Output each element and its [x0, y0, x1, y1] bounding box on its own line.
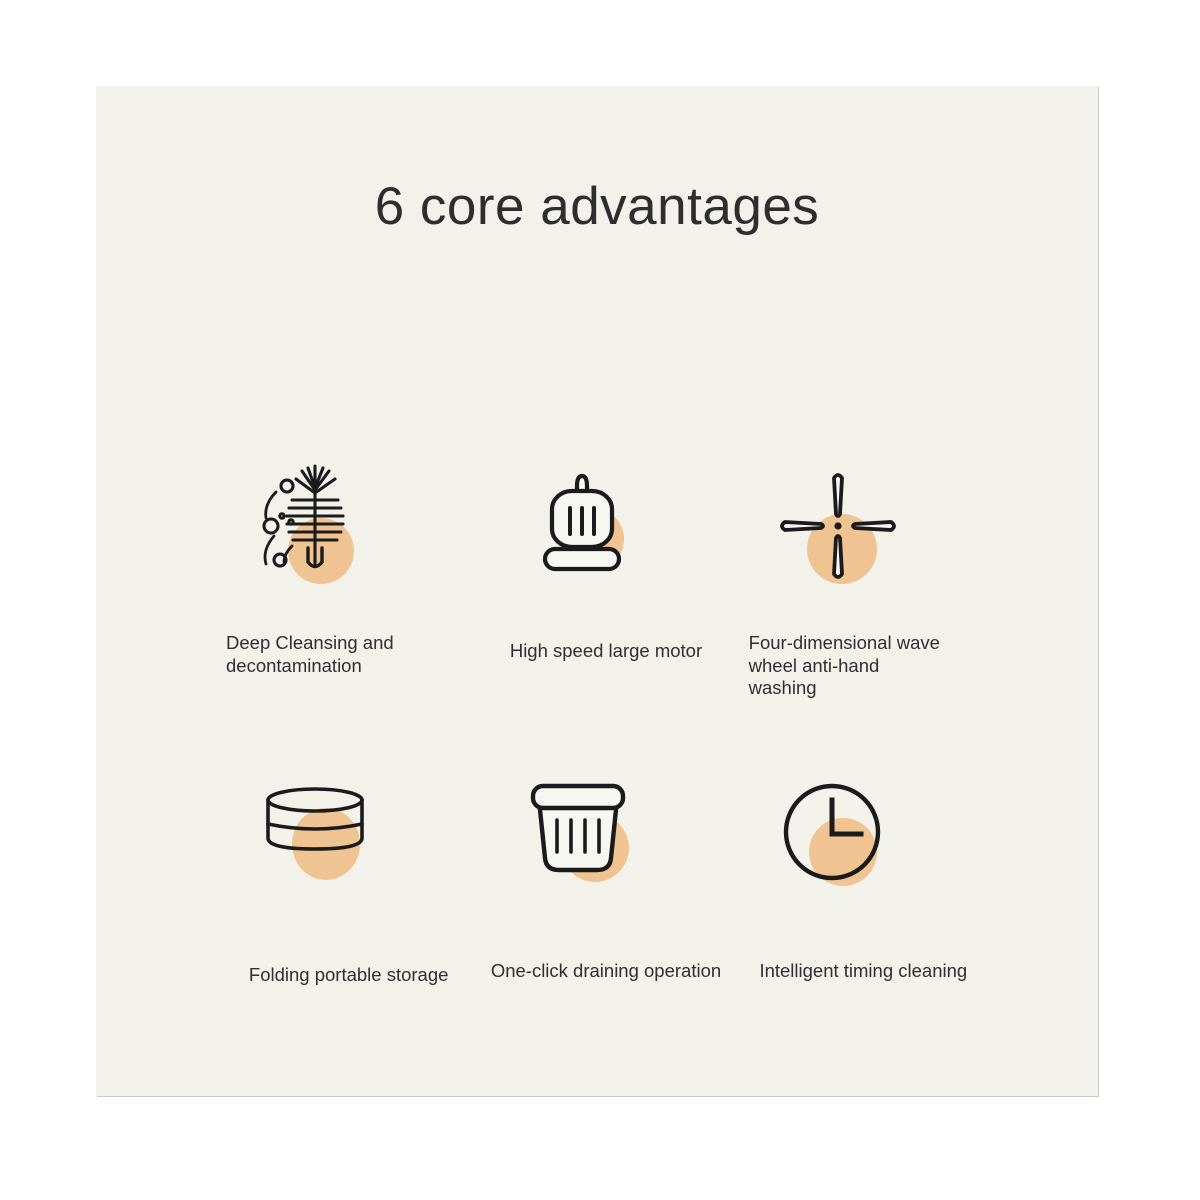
feature-item: Deep Cleansing and decontamination: [226, 456, 471, 766]
poster-canvas: 6 core advantages: [0, 0, 1200, 1200]
motor-icon: [507, 456, 657, 606]
propeller-glyph: [763, 456, 913, 606]
feature-caption: One-click draining operation: [483, 960, 728, 983]
caption-line: Deep Cleansing and: [226, 632, 471, 655]
draining-bucket-icon: [503, 766, 653, 916]
feature-caption: Folding portable storage: [226, 964, 471, 987]
folding-tub-icon: [240, 766, 390, 916]
bottle-brush-icon: [240, 456, 390, 606]
feature-item: Intelligent timing cleaning: [741, 766, 986, 1066]
caption-line: One-click draining operation: [483, 960, 728, 983]
caption-line: washing: [749, 677, 986, 700]
clock-glyph: [761, 766, 911, 916]
caption-line: Intelligent timing cleaning: [741, 960, 986, 983]
feature-item: One-click draining operation: [483, 766, 728, 1066]
wave-wheel-propeller-icon: [763, 456, 913, 606]
feature-caption: Four-dimensional wave wheel anti-hand wa…: [741, 632, 986, 700]
bottle-brush-glyph: [240, 456, 390, 606]
feature-caption: Intelligent timing cleaning: [741, 960, 986, 983]
advantages-grid: Deep Cleansing and decontamination: [226, 456, 986, 1066]
motor-glyph: [507, 456, 657, 606]
caption-line: High speed large motor: [483, 640, 728, 663]
feature-caption: Deep Cleansing and decontamination: [226, 632, 471, 677]
page-title: 6 core advantages: [96, 176, 1098, 237]
caption-line: Folding portable storage: [226, 964, 471, 987]
bucket-glyph: [503, 766, 653, 916]
feature-item: High speed large motor: [483, 456, 728, 766]
clock-icon: [761, 766, 911, 916]
hub-dot: [834, 522, 841, 529]
feature-card: 6 core advantages: [96, 86, 1098, 1096]
feature-item: Folding portable storage: [226, 766, 471, 1066]
caption-line: decontamination: [226, 655, 471, 678]
feature-caption: High speed large motor: [483, 640, 728, 663]
caption-line: Four-dimensional wave: [749, 632, 986, 655]
caption-line: wheel anti-hand: [749, 655, 986, 678]
folding-tub-glyph: [240, 766, 390, 916]
feature-item: Four-dimensional wave wheel anti-hand wa…: [741, 456, 986, 766]
